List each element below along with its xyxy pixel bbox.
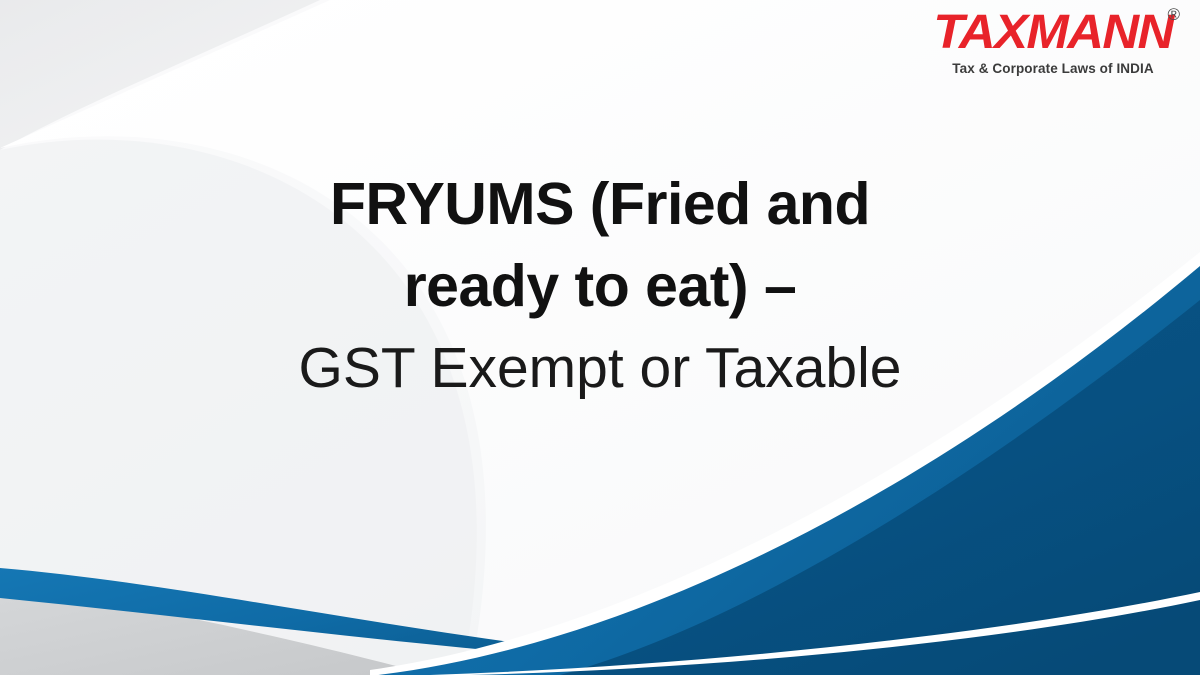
headline-block: FRYUMS (Fried and ready to eat) – GST Ex… (0, 163, 1200, 409)
logo-wordmark-row: TAXMANN ® (928, 8, 1178, 58)
taxmann-logo: TAXMANN ® Tax & Corporate Laws of INDIA (928, 8, 1178, 76)
logo-wordmark-text: TAXMANN (933, 8, 1172, 58)
headline-line-2: ready to eat) – (0, 245, 1200, 327)
promo-banner: FRYUMS (Fried and ready to eat) – GST Ex… (0, 0, 1200, 675)
headline-line-1: FRYUMS (Fried and (0, 163, 1200, 245)
headline-line-3: GST Exempt or Taxable (0, 327, 1200, 409)
logo-tagline: Tax & Corporate Laws of INDIA (928, 61, 1178, 76)
registered-trademark-icon: ® (1167, 6, 1180, 23)
